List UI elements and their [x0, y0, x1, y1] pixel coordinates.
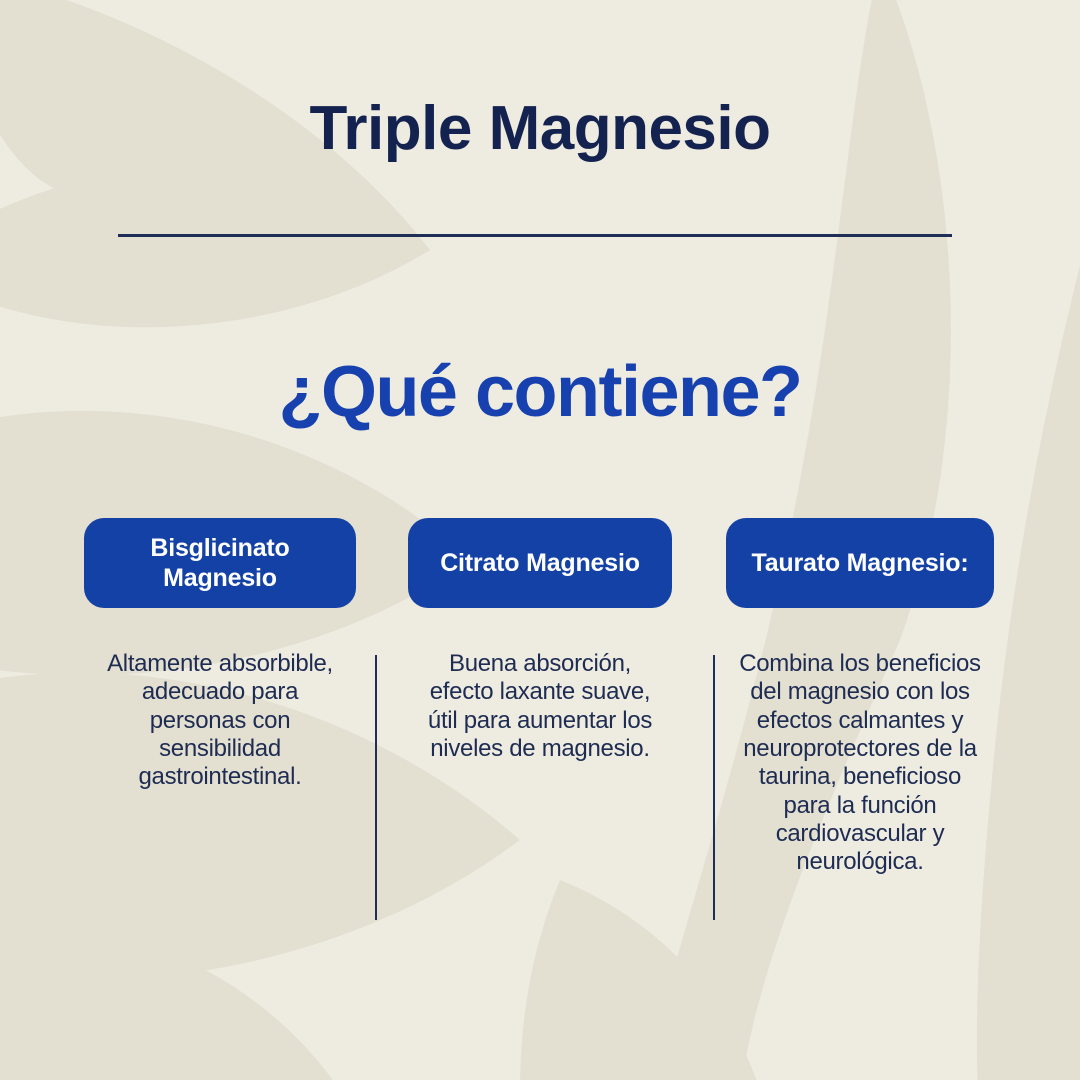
ingredient-pill-citrato[interactable]: Citrato Magnesio	[408, 518, 672, 608]
poster-canvas: Triple Magnesio ¿Qué contiene? Bisglicin…	[0, 0, 1080, 1080]
ingredient-column-bisglicinato: Bisglicinato Magnesio Altamente absorbib…	[60, 518, 380, 792]
title-divider	[118, 234, 952, 237]
ingredient-pill-bisglicinato[interactable]: Bisglicinato Magnesio	[84, 518, 356, 608]
section-heading: ¿Qué contiene?	[0, 355, 1080, 431]
ingredient-pill-taurato[interactable]: Taurato Magnesio:	[726, 518, 994, 608]
ingredient-columns: Bisglicinato Magnesio Altamente absorbib…	[60, 518, 1020, 877]
ingredient-description-taurato: Combina los beneficios del magnesio con …	[736, 650, 984, 877]
ingredient-description-bisglicinato: Altamente absorbible, adecuado para pers…	[100, 650, 340, 792]
page-title: Triple Magnesio	[0, 96, 1080, 161]
ingredient-description-citrato: Buena absorción, efecto laxante suave, ú…	[420, 650, 660, 763]
ingredient-column-taurato: Taurato Magnesio: Combina los beneficios…	[700, 518, 1020, 877]
ingredient-column-citrato: Citrato Magnesio Buena absorción, efecto…	[380, 518, 700, 763]
